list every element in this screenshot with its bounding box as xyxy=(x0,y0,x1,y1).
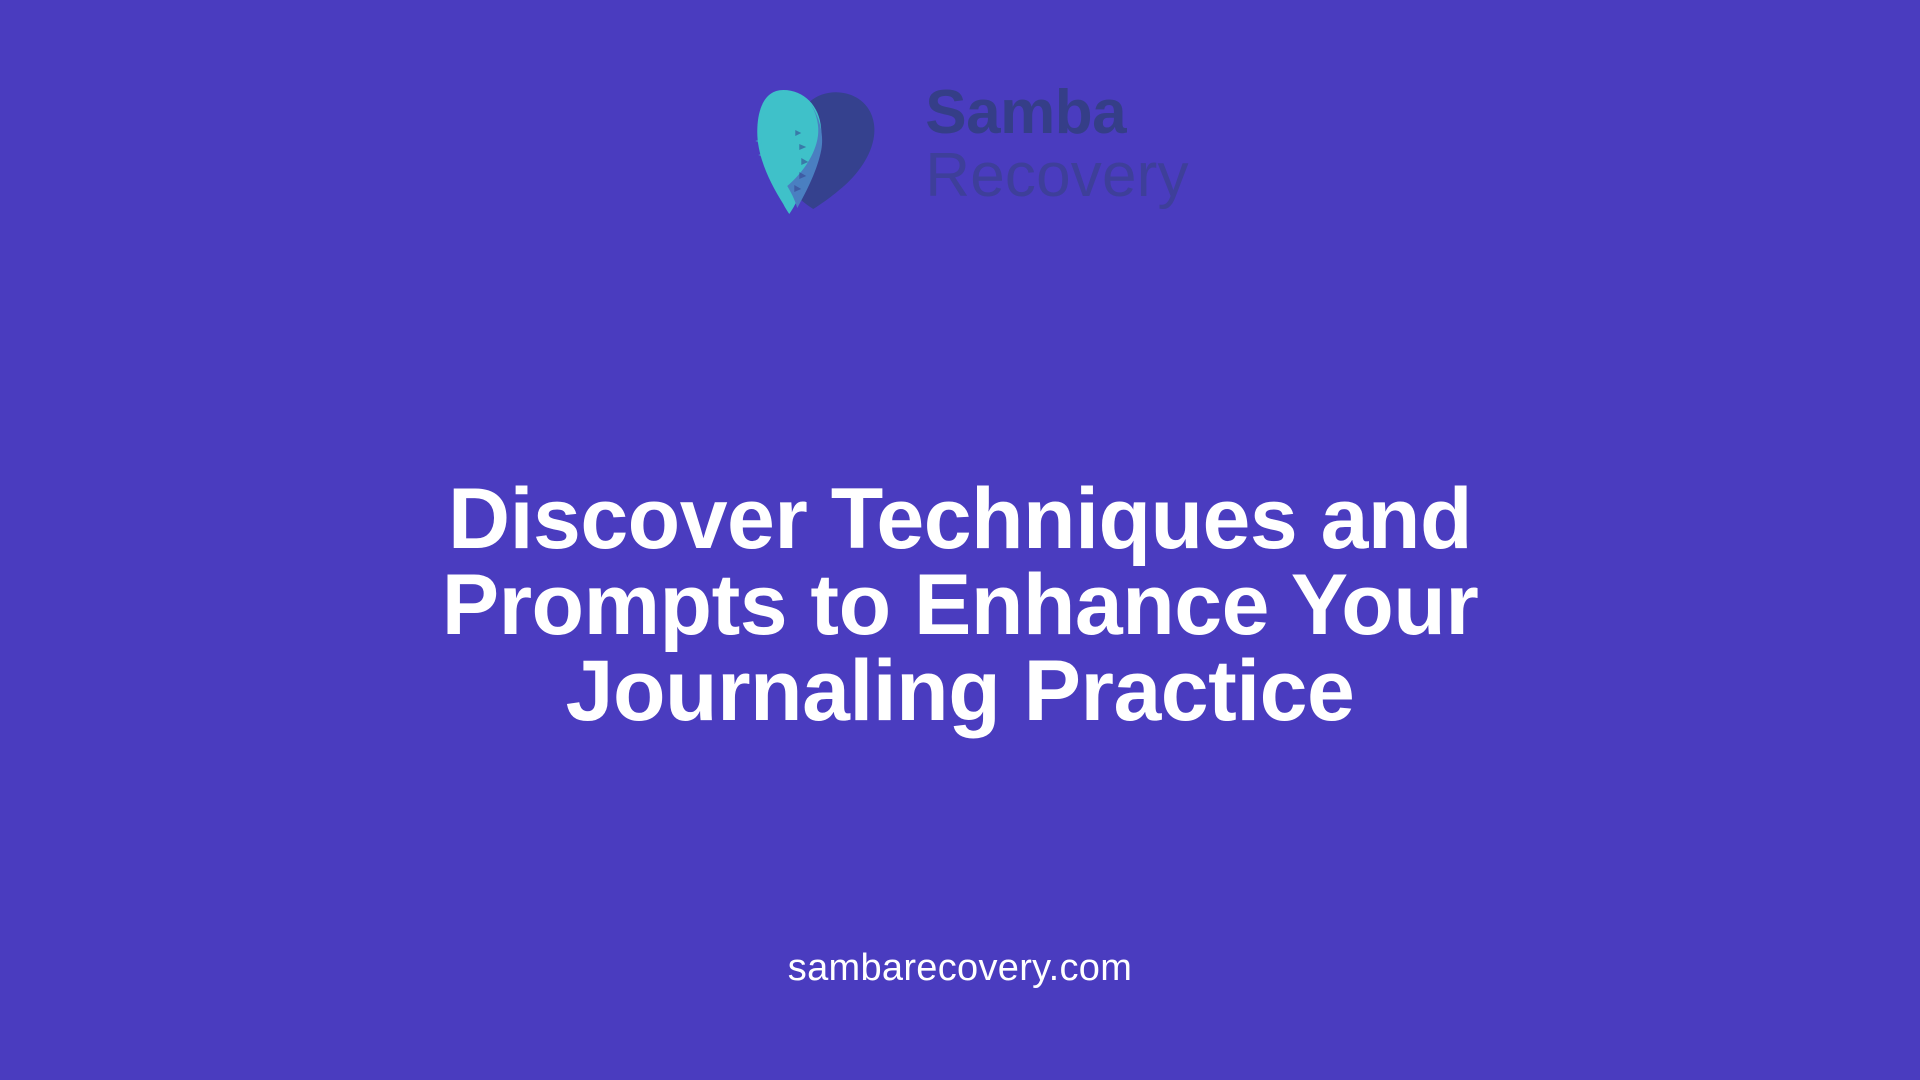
website-url[interactable]: sambarecovery.com xyxy=(0,947,1920,990)
brand-wordmark: Samba Recovery xyxy=(925,83,1188,213)
brand-name-primary: Samba xyxy=(925,83,1188,144)
headline-line-2: Prompts to Enhance Your xyxy=(180,562,1740,648)
headline-line-1: Discover Techniques and xyxy=(180,476,1740,562)
page-title: Discover Techniques and Prompts to Enhan… xyxy=(0,476,1920,734)
social-share-card: Samba Recovery Discover Techniques and P… xyxy=(0,0,1920,1080)
brand-logo-lockup[interactable]: Samba Recovery xyxy=(731,78,1188,218)
heart-logo-icon xyxy=(731,78,881,218)
headline-line-3: Journaling Practice xyxy=(180,648,1740,734)
brand-name-secondary: Recovery xyxy=(925,146,1188,207)
